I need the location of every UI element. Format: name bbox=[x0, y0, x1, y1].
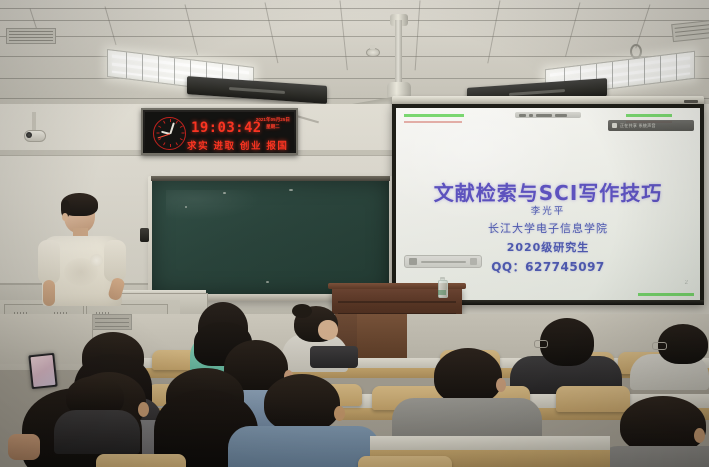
led-slogan: 求实 进取 创业 报国 bbox=[187, 138, 289, 152]
led-digital-time: 19:03:42 bbox=[191, 120, 262, 136]
ac-unit-left bbox=[187, 76, 327, 104]
water-bottle-podium bbox=[438, 276, 446, 298]
led-clock-sign: 19:03:42 2021年05月25日 星期二 求实 进取 创业 报国 bbox=[141, 108, 298, 155]
tshirt-print-circle bbox=[90, 254, 103, 267]
app-label bbox=[421, 261, 466, 263]
slide-number: 2 bbox=[685, 280, 688, 286]
audience-seating-area bbox=[0, 314, 709, 467]
ear bbox=[496, 378, 506, 392]
clock-second-hand bbox=[157, 133, 170, 138]
chair bbox=[358, 456, 452, 467]
slide-accent-green-left bbox=[404, 114, 464, 117]
ceiling-vent-right-icon bbox=[671, 20, 709, 42]
slide-affiliation: 长江大学电子信息学院 bbox=[396, 220, 700, 236]
security-camera-icon bbox=[24, 128, 46, 140]
meeting-control-bar[interactable] bbox=[515, 112, 582, 118]
share-status-label: 正在共享 系统声音 bbox=[620, 123, 656, 129]
student-patterned-shirt bbox=[630, 324, 709, 384]
slide-cohort: 2020级研究生 bbox=[396, 239, 700, 255]
presenter-speaker bbox=[38, 196, 126, 306]
presenter-arm-left bbox=[43, 280, 55, 306]
slide-accent-green-right bbox=[626, 114, 672, 117]
student-gray-right bbox=[392, 348, 542, 448]
ceiling-vent-icon bbox=[6, 28, 56, 44]
clock-minute-hand bbox=[169, 122, 174, 134]
eyeglasses-icon bbox=[534, 340, 548, 348]
led-date-block: 2021年05月25日 星期二 bbox=[256, 117, 290, 131]
app-icon bbox=[409, 258, 417, 265]
student-behind-phone bbox=[40, 376, 140, 446]
presentation-slide[interactable]: 正在共享 系统声音 文献检索与SCI写作技巧 李光平 长江大学电子信息学院 20… bbox=[396, 108, 700, 300]
slide-presenter-name: 李光平 bbox=[396, 203, 700, 217]
wall-vent-icon bbox=[92, 314, 132, 330]
eyeglasses-icon bbox=[652, 342, 667, 350]
projection-screen: 正在共享 系统声音 文献检索与SCI写作技巧 李光平 长江大学电子信息学院 20… bbox=[392, 104, 704, 304]
ear bbox=[694, 428, 705, 443]
student-gray-foreground-right bbox=[596, 396, 709, 467]
popup-close-icon[interactable] bbox=[470, 258, 477, 265]
blackboard-surface bbox=[152, 181, 389, 295]
lecture-hall-photo: 19:03:42 2021年05月25日 星期二 求实 进取 创业 报国 bbox=[0, 0, 709, 467]
screen-share-notification[interactable]: 正在共享 系统声音 bbox=[608, 120, 694, 131]
taskbar-popup[interactable] bbox=[404, 255, 482, 268]
blackboard-clip bbox=[140, 228, 149, 242]
student-blue-foreground bbox=[228, 374, 380, 467]
slide-accent-red-left bbox=[404, 121, 462, 123]
share-status-icon bbox=[612, 123, 617, 128]
ear bbox=[334, 406, 345, 421]
presenter-ear bbox=[62, 213, 68, 221]
led-date: 2021年05月25日 bbox=[256, 117, 290, 124]
raised-arm bbox=[8, 434, 40, 460]
presenter-sleeve-right bbox=[104, 240, 126, 282]
slide-accent-green-bottom bbox=[638, 293, 694, 296]
analog-clock-face bbox=[153, 117, 186, 150]
presenter-sleeve-left bbox=[38, 240, 60, 284]
ceiling bbox=[0, 0, 709, 108]
chair bbox=[96, 454, 186, 467]
led-weekday: 星期二 bbox=[256, 124, 290, 131]
smoke-detector-icon bbox=[366, 48, 380, 57]
bun-hair bbox=[292, 304, 312, 318]
